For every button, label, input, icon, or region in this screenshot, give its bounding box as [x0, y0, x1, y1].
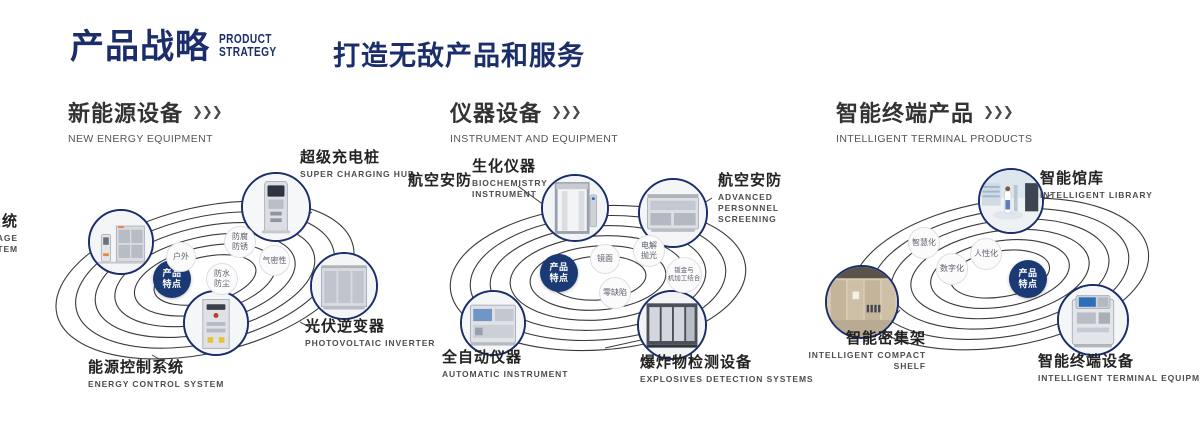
feature-line1: 气密性	[263, 256, 287, 266]
node-label-en: EXPLOSIVES DETECTION SYSTEMS	[640, 374, 814, 385]
page-title-cn: 产品战略	[70, 27, 210, 67]
node-label-intelligent-compact-shelf: 智能密集架 INTELLIGENT COMPACT SHELF	[776, 330, 926, 372]
feature-line2: 机加工结合	[668, 275, 701, 283]
chevron-right-icon: ❯❯❯	[192, 104, 222, 120]
node-label-cn: 储能系统	[0, 213, 18, 231]
inverter-cabinet-image	[312, 254, 376, 318]
node-label-cn: 智能密集架	[776, 330, 926, 348]
product-photo-intelligent-compact-shelf[interactable]	[825, 265, 899, 339]
node-label-cn: 航空安防	[408, 172, 472, 190]
feature-line1: 防腐	[232, 232, 248, 242]
feature-bubble[interactable]: 户外	[166, 242, 196, 272]
section-header-instrument: 仪器设备 ❯❯❯ INSTRUMENT AND EQUIPMENT	[450, 96, 618, 145]
product-photo-automatic-instrument[interactable]	[460, 290, 526, 356]
node-label-automatic-instrument: 全自动仪器 AUTOMATIC INSTRUMENT	[442, 349, 568, 380]
feature-line1: 电解	[641, 241, 657, 251]
node-label-cn: 生化仪器	[472, 158, 544, 176]
node-label-intelligent-terminal-equipment: 智能终端设备 INTELLIGENT TERMINAL EQUIPMENT	[1038, 353, 1200, 384]
product-photo-intelligent-terminal-equipment[interactable]	[1057, 284, 1129, 356]
node-label-en: INTELLIGENT TERMINAL EQUIPMENT	[1038, 373, 1200, 384]
hub-line1: 产品	[1018, 268, 1037, 279]
feature-line2: 防尘	[214, 279, 230, 289]
self-service-kiosk-image	[1059, 286, 1127, 354]
feature-bubble[interactable]: 钣金与 机加工结合	[666, 257, 702, 293]
node-label-energy-storage-system: 储能系统 ENERGY STORAGE SYSTEM	[0, 213, 18, 255]
feature-line1: 智慧化	[912, 238, 936, 248]
section-title-cn: 仪器设备	[450, 96, 542, 128]
charging-pile-image	[243, 174, 309, 240]
feature-line1: 零缺陷	[603, 288, 627, 298]
chevron-right-icon: ❯❯❯	[551, 104, 581, 120]
automatic-analyzer-image	[462, 292, 524, 354]
feature-line2: 防锈	[232, 242, 248, 252]
cluster-intelligent-terminal-products: 产品 特点 智慧化 数字化 人性化 智能馆库 INTELLIGENT LIBRA…	[800, 150, 1200, 390]
hub-line2: 特点	[549, 273, 568, 284]
security-gate-image	[543, 176, 607, 240]
node-label-en: ENERGY STORAGE SYSTEM	[0, 233, 18, 255]
node-label-cn: 航空安防	[718, 172, 808, 190]
node-label-en: BIOCHEMISTRY INSTRUMENT	[472, 178, 544, 200]
node-label-en: INTELLIGENT LIBRARY	[1040, 190, 1153, 201]
node-label-intelligent-library: 智能馆库 INTELLIGENT LIBRARY	[1040, 170, 1153, 201]
product-photo-explosives-detection[interactable]	[637, 290, 707, 360]
hub-product-features[interactable]: 产品 特点	[540, 254, 578, 292]
feature-bubble[interactable]: 数字化	[936, 253, 968, 285]
cluster-instrument-and-equipment: 产品 特点 镜面 电解 抛光 零缺陷 钣金与 机加工结合 航空安防 生化仪器 B…	[400, 150, 800, 390]
feature-line1: 户外	[173, 252, 189, 262]
feature-line1: 钣金与	[674, 267, 694, 275]
hub-line1: 产品	[549, 262, 568, 273]
node-label-cn: 能源控制系统	[88, 359, 224, 377]
feature-bubble[interactable]: 镜面	[590, 244, 620, 274]
feature-line2: 抛光	[641, 251, 657, 261]
hub-product-features[interactable]: 产品 特点	[1009, 260, 1047, 298]
feature-bubble[interactable]: 气密性	[259, 245, 290, 276]
feature-line1: 防水	[214, 269, 230, 279]
node-label-aviation-security-left: 航空安防	[408, 172, 472, 190]
node-label-cn: 智能馆库	[1040, 170, 1153, 188]
feature-line1: 数字化	[940, 264, 964, 274]
product-photo-photovoltaic-inverter[interactable]	[310, 252, 378, 320]
page-title: 产品战略 PRODUCT STRATEGY	[70, 27, 293, 67]
node-label-cn: 超级充电桩	[300, 149, 415, 167]
section-title-en: NEW ENERGY EQUIPMENT	[68, 133, 222, 145]
library-interior-image	[980, 170, 1042, 232]
cluster-new-energy-equipment: 产品 特点 户外 防腐 防锈 防水 防尘 气密性 储能系统 ENERGY STO…	[0, 150, 400, 390]
section-title-cn: 智能终端产品	[836, 96, 974, 128]
feature-bubble[interactable]: 防腐 防锈	[224, 226, 256, 258]
hub-line2: 特点	[162, 279, 181, 290]
section-title-en: INSTRUMENT AND EQUIPMENT	[450, 133, 618, 145]
node-label-en: ADVANCED PERSONNEL SCREENING	[718, 192, 808, 225]
control-cabinet-image	[185, 292, 247, 354]
page-title-en-line2: STRATEGY	[219, 45, 277, 58]
node-label-advanced-personnel-screening: 航空安防 ADVANCED PERSONNEL SCREENING	[718, 172, 808, 225]
node-label-cn: 智能终端设备	[1038, 353, 1200, 371]
node-label-biochemistry-instrument: 生化仪器 BIOCHEMISTRY INSTRUMENT	[472, 158, 544, 200]
feature-bubble[interactable]: 电解 抛光	[633, 235, 665, 267]
product-photo-energy-control-system[interactable]	[183, 290, 249, 356]
node-label-en: ENERGY CONTROL SYSTEM	[88, 379, 224, 390]
energy-storage-cabinet-image	[90, 211, 152, 273]
node-label-en: INTELLIGENT COMPACT SHELF	[776, 350, 926, 372]
feature-bubble[interactable]: 人性化	[970, 238, 1002, 270]
section-header-intelligent-terminal: 智能终端产品 ❯❯❯ INTELLIGENT TERMINAL PRODUCTS	[836, 96, 1032, 145]
feature-line1: 镜面	[597, 254, 613, 264]
compact-shelf-image	[827, 267, 897, 337]
detection-cabinet-image	[639, 292, 705, 358]
feature-bubble[interactable]: 防水 防尘	[206, 263, 238, 295]
node-label-cn: 全自动仪器	[442, 349, 568, 367]
product-photo-biochemistry-instrument[interactable]	[541, 174, 609, 242]
chevron-right-icon: ❯❯❯	[983, 104, 1013, 120]
page-title-en: PRODUCT STRATEGY	[219, 32, 277, 58]
node-label-en: SUPER CHARGING HUB	[300, 169, 415, 180]
node-label-en: AUTOMATIC INSTRUMENT	[442, 369, 568, 380]
hub-line2: 特点	[1018, 279, 1037, 290]
section-title-cn: 新能源设备	[68, 96, 183, 128]
section-header-new-energy: 新能源设备 ❯❯❯ NEW ENERGY EQUIPMENT	[68, 96, 222, 145]
section-title-en: INTELLIGENT TERMINAL PRODUCTS	[836, 133, 1032, 145]
slide-canvas: 产品战略 PRODUCT STRATEGY 打造无敌产品和服务 新能源设备 ❯❯…	[0, 0, 1200, 422]
product-photo-intelligent-library[interactable]	[978, 168, 1044, 234]
feature-line1: 人性化	[974, 249, 998, 259]
page-subtitle: 打造无敌产品和服务	[333, 34, 585, 73]
node-label-energy-control-system: 能源控制系统 ENERGY CONTROL SYSTEM	[88, 359, 224, 390]
feature-bubble[interactable]: 智慧化	[908, 227, 940, 259]
product-photo-energy-storage[interactable]	[88, 209, 154, 275]
feature-bubble[interactable]: 零缺陷	[599, 277, 631, 309]
node-label-super-charging-hub: 超级充电桩 SUPER CHARGING HUB	[300, 149, 415, 180]
